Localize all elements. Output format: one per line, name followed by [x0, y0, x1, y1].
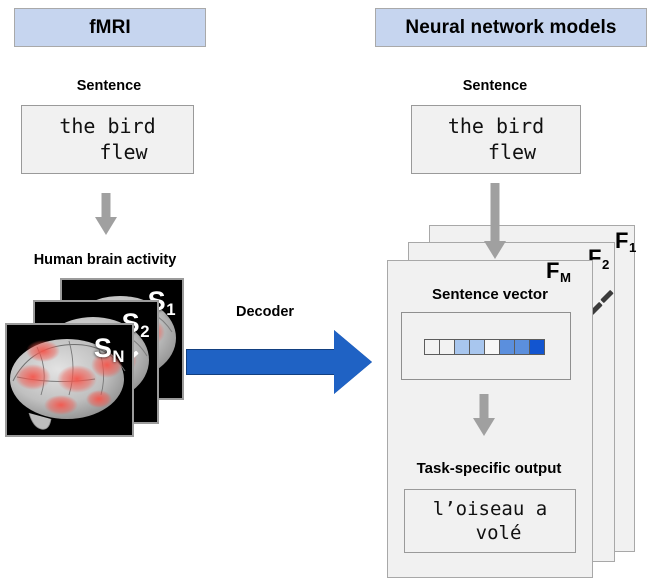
- vector-cell-2: [439, 339, 455, 355]
- model-label-f2-sub: 2: [602, 257, 609, 272]
- left-sentence-box: the bird flew: [21, 105, 194, 174]
- task-specific-output-box: l’oiseau a volé: [404, 489, 576, 553]
- task-specific-output-caption: Task-specific output: [396, 460, 582, 477]
- decoder-arrow-icon: [186, 330, 372, 394]
- vector-cell-8: [529, 339, 545, 355]
- output-line2: volé: [459, 521, 522, 545]
- sentence-vector-caption: Sentence vector: [400, 286, 580, 303]
- fmri-header-label: fMRI: [89, 17, 131, 39]
- vector-cell-7: [514, 339, 530, 355]
- vector-cell-5: [484, 339, 500, 355]
- right-sentence-box: the bird flew: [411, 105, 581, 174]
- model-label-f1-sub: 1: [629, 240, 636, 255]
- left-sentence-line1: the bird: [59, 114, 155, 140]
- vector-cell-4: [469, 339, 485, 355]
- vector-cell-3: [454, 339, 470, 355]
- human-brain-activity-caption: Human brain activity: [0, 252, 210, 268]
- model-label-fm-sub: M: [560, 270, 571, 285]
- right-sentence-caption: Sentence: [405, 78, 585, 94]
- model-label-f1: F1: [615, 228, 636, 254]
- sentence-vector-cells: [424, 339, 544, 355]
- brain-label-s1-sub: 1: [166, 300, 175, 319]
- fmri-column-header: fMRI: [14, 8, 206, 47]
- nn-header-label: Neural network models: [405, 17, 616, 39]
- model-label-fm: FM: [546, 258, 570, 284]
- output-line1: l’oiseau a: [433, 497, 547, 521]
- left-down-arrow-icon: [88, 193, 124, 235]
- vector-cell-1: [424, 339, 440, 355]
- brain-label-s2-sub: 2: [140, 322, 149, 341]
- brain-label-sn-sub: N: [112, 347, 124, 366]
- brain-label-sn: SN: [94, 333, 124, 364]
- left-sentence-caption: Sentence: [14, 78, 204, 94]
- neural-network-column-header: Neural network models: [375, 8, 647, 47]
- sentence-vector-box: [401, 312, 571, 380]
- right-down-arrow-icon: [477, 183, 513, 263]
- decoder-label: Decoder: [236, 304, 294, 320]
- left-sentence-line2: flew: [67, 140, 147, 166]
- right-sentence-line2: flew: [456, 140, 536, 166]
- vector-cell-6: [499, 339, 515, 355]
- right-down-arrow-icon-2: [466, 394, 502, 438]
- right-sentence-line1: the bird: [448, 114, 544, 140]
- brain-image-sn: SN: [5, 323, 134, 437]
